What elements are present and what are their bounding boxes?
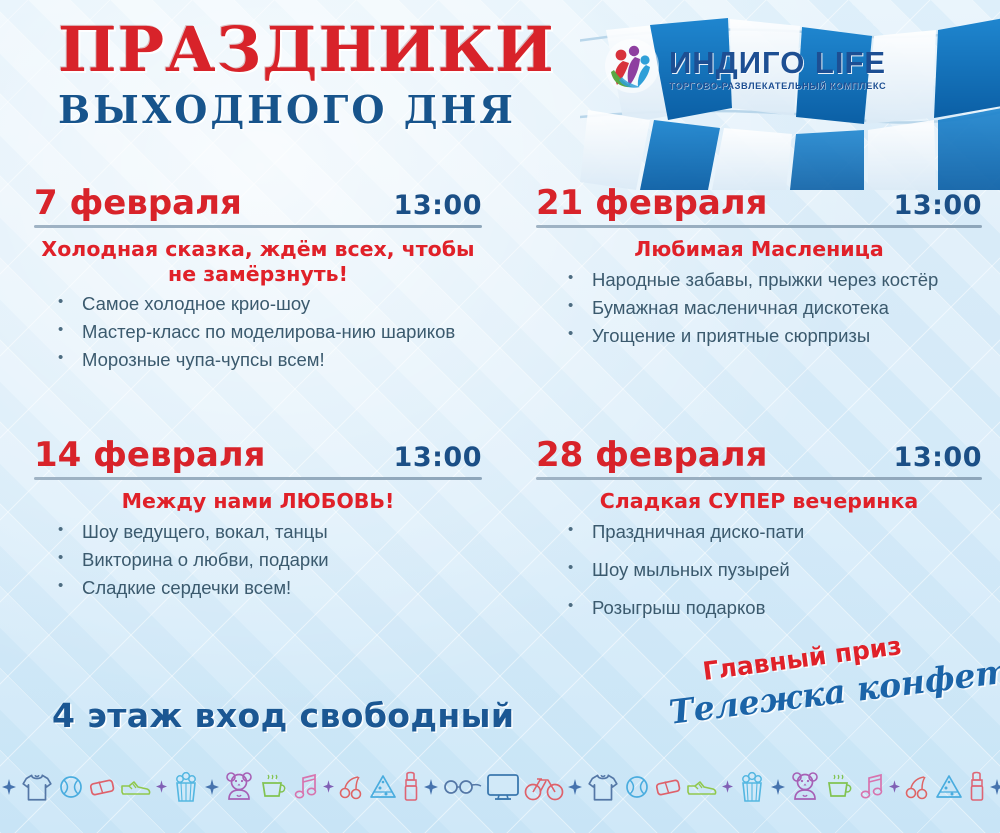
list-item: Самое холодное крио-шоу xyxy=(82,292,482,317)
title-block: ПРАЗДНИКИ ВЫХОДНОГО ДНЯ xyxy=(58,18,555,132)
poster-header: ПРАЗДНИКИ ВЫХОДНОГО ДНЯ xyxy=(0,0,1000,175)
event-title: Сладкая СУПЕР вечеринка xyxy=(536,489,982,520)
event-title: Холодная сказка, ждём всех, чтобы не зам… xyxy=(34,237,482,292)
event-month: февраля xyxy=(70,183,242,223)
list-item: Народные забавы, прыжки через костёр xyxy=(592,268,982,293)
list-item: Викторина о любви, подарки xyxy=(82,548,482,573)
sparkle-icon xyxy=(568,779,582,800)
event-day: 7 xyxy=(34,183,58,223)
cherry-icon xyxy=(338,774,364,805)
list-item: Морозные чупа-чупсы всем! xyxy=(82,348,482,373)
logo-tagline: ТОРГОВО-РАЗВЛЕКАТЕЛЬНЫЙ КОМПЛЕКС xyxy=(669,81,886,91)
icon-strip-run xyxy=(566,770,1000,809)
sneaker-icon xyxy=(686,776,718,803)
sparkle-icon xyxy=(205,779,219,800)
event-time: 13:00 xyxy=(394,190,482,221)
logo-name: ИНДИГО LIFE xyxy=(669,47,886,78)
decorative-icon-strip xyxy=(0,745,1000,833)
coffee-cup-icon xyxy=(825,774,855,805)
event-card[interactable]: 7 февраля 13:00 Холодная сказка, ждём вс… xyxy=(0,186,508,438)
brand-logo[interactable]: ИНДИГО LIFE ТОРГОВО-РАЗВЛЕКАТЕЛЬНЫЙ КОМП… xyxy=(604,38,886,99)
event-item-list: Шоу ведущего, вокал, танцы Викторина о л… xyxy=(34,520,482,601)
event-header: 21 февраля 13:00 xyxy=(536,186,982,225)
sparkle-icon xyxy=(771,779,785,800)
event-day: 14 xyxy=(34,435,81,475)
main-prize-block: Главный приз Тележка конфет xyxy=(662,640,982,730)
sparkle-icon xyxy=(990,779,1000,800)
event-time: 13:00 xyxy=(894,190,982,221)
monitor-icon xyxy=(486,772,520,807)
page-subtitle: ВЫХОДНОГО ДНЯ xyxy=(58,87,555,132)
event-header: 14 февраля 13:00 xyxy=(34,438,482,477)
event-item-list: Народные забавы, прыжки через костёр Бум… xyxy=(536,268,982,349)
list-item: Угощение и приятные сюрпризы xyxy=(592,324,982,349)
event-item-list: Самое холодное крио-шоу Мастер-класс по … xyxy=(34,292,482,373)
sparkle-alt-icon xyxy=(323,780,334,798)
event-title: Между нами ЛЮБОВЬ! xyxy=(34,489,482,520)
bicycle-icon xyxy=(524,773,564,806)
event-header: 28 февраля 13:00 xyxy=(536,438,982,477)
list-item: Мастер-класс по моделирова-нию шариков xyxy=(82,320,482,345)
pizza-slice-icon xyxy=(368,773,398,806)
cherry-icon xyxy=(904,774,930,805)
event-month: февраля xyxy=(595,183,767,223)
event-date: 14 февраля xyxy=(34,438,266,472)
eraser-icon xyxy=(88,777,116,802)
eraser-icon xyxy=(654,777,682,802)
list-item: Праздничная диско-пати xyxy=(592,520,982,545)
pizza-slice-icon xyxy=(934,773,964,806)
event-divider xyxy=(536,477,982,480)
popcorn-icon xyxy=(171,771,201,808)
event-month: февраля xyxy=(93,435,265,475)
event-title: Любимая Масленица xyxy=(536,237,982,268)
popcorn-icon xyxy=(737,771,767,808)
list-item: Шоу мыльных пузырей xyxy=(592,558,982,583)
teddy-bear-icon xyxy=(789,770,821,809)
poster-root: ПРАЗДНИКИ ВЫХОДНОГО ДНЯ xyxy=(0,0,1000,833)
event-date: 28 февраля xyxy=(536,438,768,472)
event-date: 7 февраля xyxy=(34,186,242,220)
lipstick-icon xyxy=(968,771,986,808)
event-day: 28 xyxy=(536,435,583,475)
page-title: ПРАЗДНИКИ xyxy=(58,18,555,81)
event-date: 21 февраля xyxy=(536,186,768,220)
glasses-icon xyxy=(442,777,482,802)
event-divider xyxy=(34,225,482,228)
sparkle-alt-icon xyxy=(889,780,900,798)
list-item: Шоу ведущего, вокал, танцы xyxy=(82,520,482,545)
event-card[interactable]: 21 февраля 13:00 Любимая Масленица Народ… xyxy=(508,186,1000,438)
event-card[interactable]: 14 февраля 13:00 Между нами ЛЮБОВЬ! Шоу … xyxy=(0,438,508,658)
event-item-list: Праздничная диско-пати Шоу мыльных пузыр… xyxy=(536,520,982,621)
sparkle-icon xyxy=(2,779,16,800)
event-divider xyxy=(34,477,482,480)
coffee-cup-icon xyxy=(259,774,289,805)
event-time: 13:00 xyxy=(894,442,982,473)
footer-note: 4 этаж вход свободный xyxy=(52,696,514,735)
event-divider xyxy=(536,225,982,228)
music-note-icon xyxy=(293,773,319,806)
baseball-icon xyxy=(58,774,84,805)
event-header: 7 февраля 13:00 xyxy=(34,186,482,225)
sparkle-alt-icon xyxy=(156,780,167,798)
tshirt-icon xyxy=(20,770,54,809)
events-grid: 7 февраля 13:00 Холодная сказка, ждём вс… xyxy=(0,186,1000,658)
list-item: Сладкие сердечки всем! xyxy=(82,576,482,601)
lipstick-icon xyxy=(402,771,420,808)
sparkle-alt-icon xyxy=(722,780,733,798)
sparkle-icon xyxy=(424,779,438,800)
event-month: февраля xyxy=(595,435,767,475)
list-item: Розыгрыш подарков xyxy=(592,596,982,621)
music-note-icon xyxy=(859,773,885,806)
teddy-bear-icon xyxy=(223,770,255,809)
tshirt-icon xyxy=(586,770,620,809)
three-figures-icon xyxy=(604,38,660,99)
list-item: Бумажная масленичная дискотека xyxy=(592,296,982,321)
event-card[interactable]: 28 февраля 13:00 Сладкая СУПЕР вечеринка… xyxy=(508,438,1000,658)
baseball-icon xyxy=(624,774,650,805)
event-day: 21 xyxy=(536,183,583,223)
sneaker-icon xyxy=(120,776,152,803)
event-time: 13:00 xyxy=(394,442,482,473)
icon-strip-run xyxy=(0,770,566,809)
